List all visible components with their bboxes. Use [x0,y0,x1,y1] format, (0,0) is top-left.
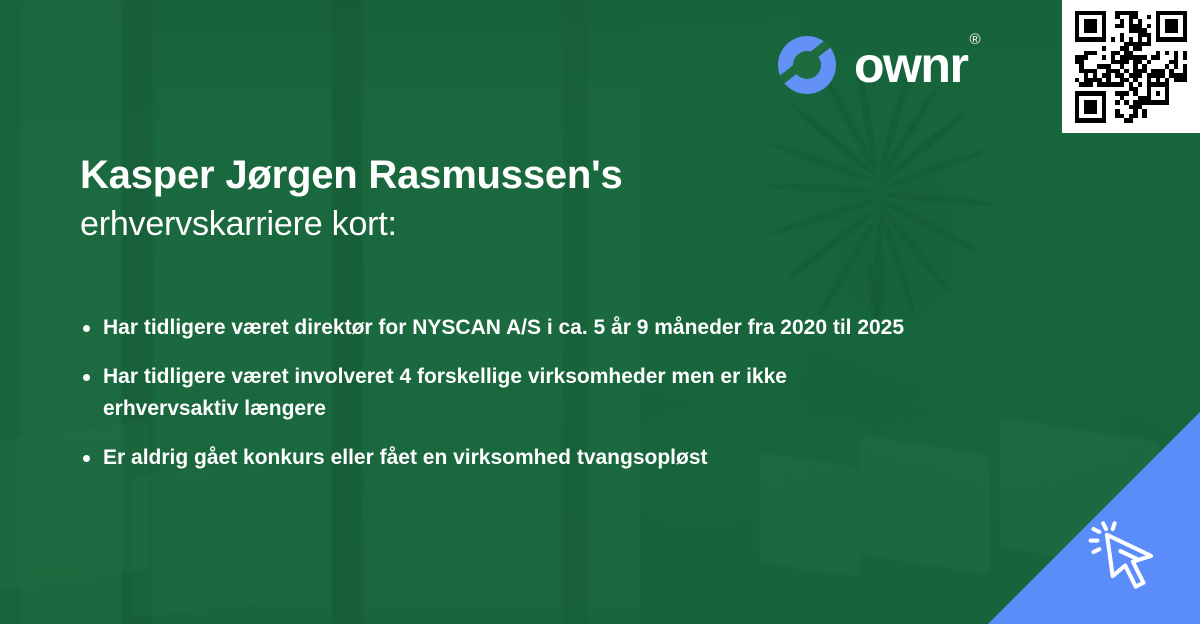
list-item: Har tidligere været involveret 4 forskel… [80,361,920,426]
bullet-dot-icon [83,374,90,381]
registered-trademark-icon: ® [969,31,979,48]
ownr-logomark-icon [778,36,836,94]
bullet-dot-icon [83,325,90,332]
list-item-text: Er aldrig gået konkurs eller fået en vir… [103,446,708,469]
career-summary-list: Har tidligere været direktør for NYSCAN … [80,312,920,474]
list-item: Har tidligere været direktør for NYSCAN … [80,312,920,345]
ownr-wordmark-text: ownr [854,37,967,93]
headline-block: Kasper Jørgen Rasmussen's erhvervskarrie… [80,152,880,246]
click-cursor-icon [1082,506,1178,602]
list-item-text: Har tidligere været involveret 4 forskel… [103,365,787,421]
qr-code[interactable] [1075,11,1187,123]
ownr-logo[interactable]: ownr® [778,34,977,96]
headline-subtitle: erhvervskarriere kort: [80,203,880,246]
qr-code-panel[interactable] [1062,0,1200,133]
list-item-text: Har tidligere været direktør for NYSCAN … [103,316,904,339]
list-item: Er aldrig gået konkurs eller fået en vir… [80,442,920,475]
ownr-wordmark: ownr® [854,40,977,90]
bullet-dot-icon [83,455,90,462]
ownr-career-summary-card: ownr® Kasper Jørgen Rasmussen's erhvervs… [0,0,1200,624]
headline-person-name: Kasper Jørgen Rasmussen's [80,152,880,199]
